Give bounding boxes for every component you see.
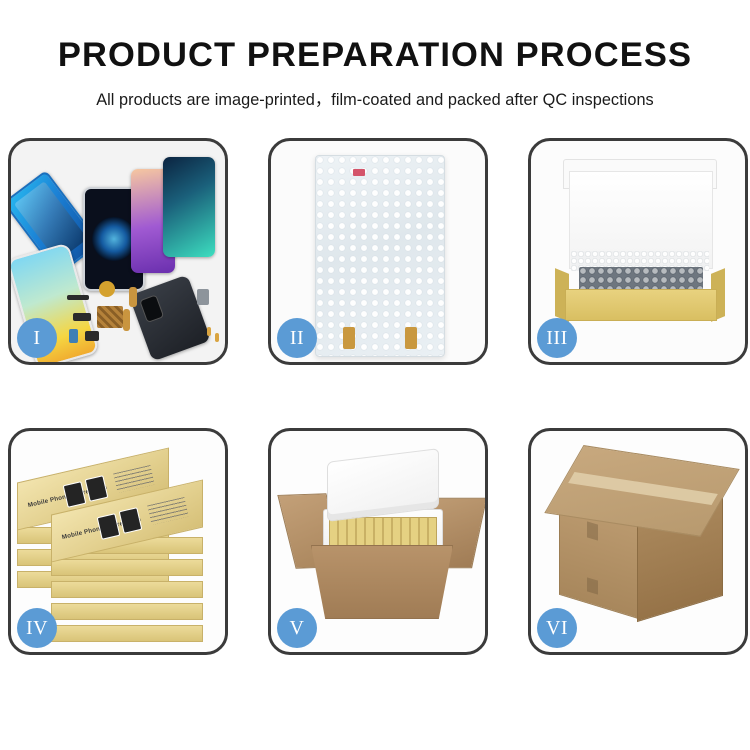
part-bracket-icon — [73, 313, 91, 321]
lcd-gold-tab-left-icon — [343, 327, 355, 349]
part-flex-cable-icon — [129, 287, 137, 307]
step-badge-1: I — [17, 318, 57, 358]
step-badge-6: VI — [537, 608, 577, 648]
step-panel-6: VI — [528, 428, 748, 655]
part-screw-2-icon — [215, 333, 219, 342]
bubble-wrap-bag-icon — [315, 155, 445, 357]
part-flex-cable-2-icon — [123, 309, 130, 331]
step-badge-3: III — [537, 318, 577, 358]
retail-box-front-1-icon — [51, 625, 203, 642]
lcd-qc-mark-icon — [353, 169, 365, 176]
phone-teal-icon — [163, 157, 215, 257]
retail-box-front-4-icon — [51, 559, 203, 576]
header: PRODUCT PREPARATION PROCESS All products… — [0, 0, 750, 110]
page-subtitle: All products are image-printed，film-coat… — [0, 75, 750, 110]
step-panel-4: Mobile Phone Spare Parts Mobile Phone Sp… — [8, 428, 228, 655]
page-title: PRODUCT PREPARATION PROCESS — [0, 0, 750, 75]
part-coil-icon — [99, 281, 115, 297]
step-badge-5: V — [277, 608, 317, 648]
step-badge-2: II — [277, 318, 317, 358]
step-panel-2: II — [268, 138, 488, 365]
inner-box-front-panel-icon — [565, 289, 717, 321]
inner-box-bubble-wrap-icon — [579, 267, 703, 291]
part-strip-icon — [67, 295, 89, 300]
lcd-gold-tab-right-icon — [405, 327, 417, 349]
step-panel-5: V — [268, 428, 488, 655]
part-camera-module-icon — [197, 289, 209, 305]
retail-box-front-2-icon — [51, 603, 203, 620]
part-speaker-icon — [85, 331, 99, 341]
part-screw-icon — [207, 327, 211, 336]
step-badge-4: IV — [17, 608, 57, 648]
shipping-carton-seam-upper-icon — [587, 521, 598, 540]
process-steps-grid: I II III — [8, 138, 742, 655]
step-panel-3: III — [528, 138, 748, 365]
carton-body-icon — [311, 545, 453, 619]
part-battery-icon — [69, 329, 78, 343]
retail-box-front-3-icon — [51, 581, 203, 598]
step-panel-1: I — [8, 138, 228, 365]
part-chip-array-icon — [97, 306, 123, 328]
shipping-carton-seam-lower-icon — [587, 577, 598, 594]
